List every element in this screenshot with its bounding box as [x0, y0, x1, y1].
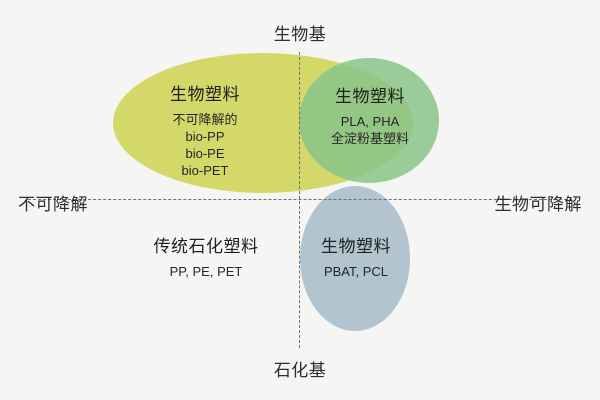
quadrant-top-left-title: 生物塑料 [130, 80, 280, 105]
quadrant-bottom-right-title: 生物塑料 [300, 232, 412, 257]
axis-label-left: 不可降解 [18, 190, 88, 215]
quadrant-top-left-line-2: bio-PP [130, 128, 280, 145]
quadrant-top-right-title: 生物塑料 [306, 82, 434, 107]
quadrant-top-left: 生物塑料 不可降解的 bio-PP bio-PE bio-PET [130, 80, 280, 179]
vertical-axis [299, 52, 300, 348]
axis-label-right: 生物可降解 [495, 190, 583, 215]
quadrant-bottom-right-line-1: PBAT, PCL [300, 263, 412, 280]
quadrant-top-left-line-1: 不可降解的 [130, 111, 280, 128]
quadrant-top-left-line-3: bio-PE [130, 145, 280, 162]
horizontal-axis [28, 199, 572, 200]
quadrant-bottom-left-title: 传统石化塑料 [128, 232, 284, 257]
quadrant-diagram: 生物基 石化基 不可降解 生物可降解 生物塑料 不可降解的 bio-PP bio… [0, 0, 600, 400]
quadrant-top-right-line-1: PLA, PHA [306, 113, 434, 130]
quadrant-top-left-line-4: bio-PET [130, 162, 280, 179]
quadrant-bottom-left-line-1: PP, PE, PET [128, 263, 284, 280]
quadrant-top-right: 生物塑料 PLA, PHA 全淀粉基塑料 [306, 82, 434, 147]
quadrant-bottom-right: 生物塑料 PBAT, PCL [300, 232, 412, 280]
quadrant-top-right-line-2: 全淀粉基塑料 [306, 130, 434, 147]
quadrant-bottom-left: 传统石化塑料 PP, PE, PET [128, 232, 284, 280]
axis-label-bottom: 石化基 [0, 356, 600, 381]
axis-label-top: 生物基 [0, 20, 600, 45]
